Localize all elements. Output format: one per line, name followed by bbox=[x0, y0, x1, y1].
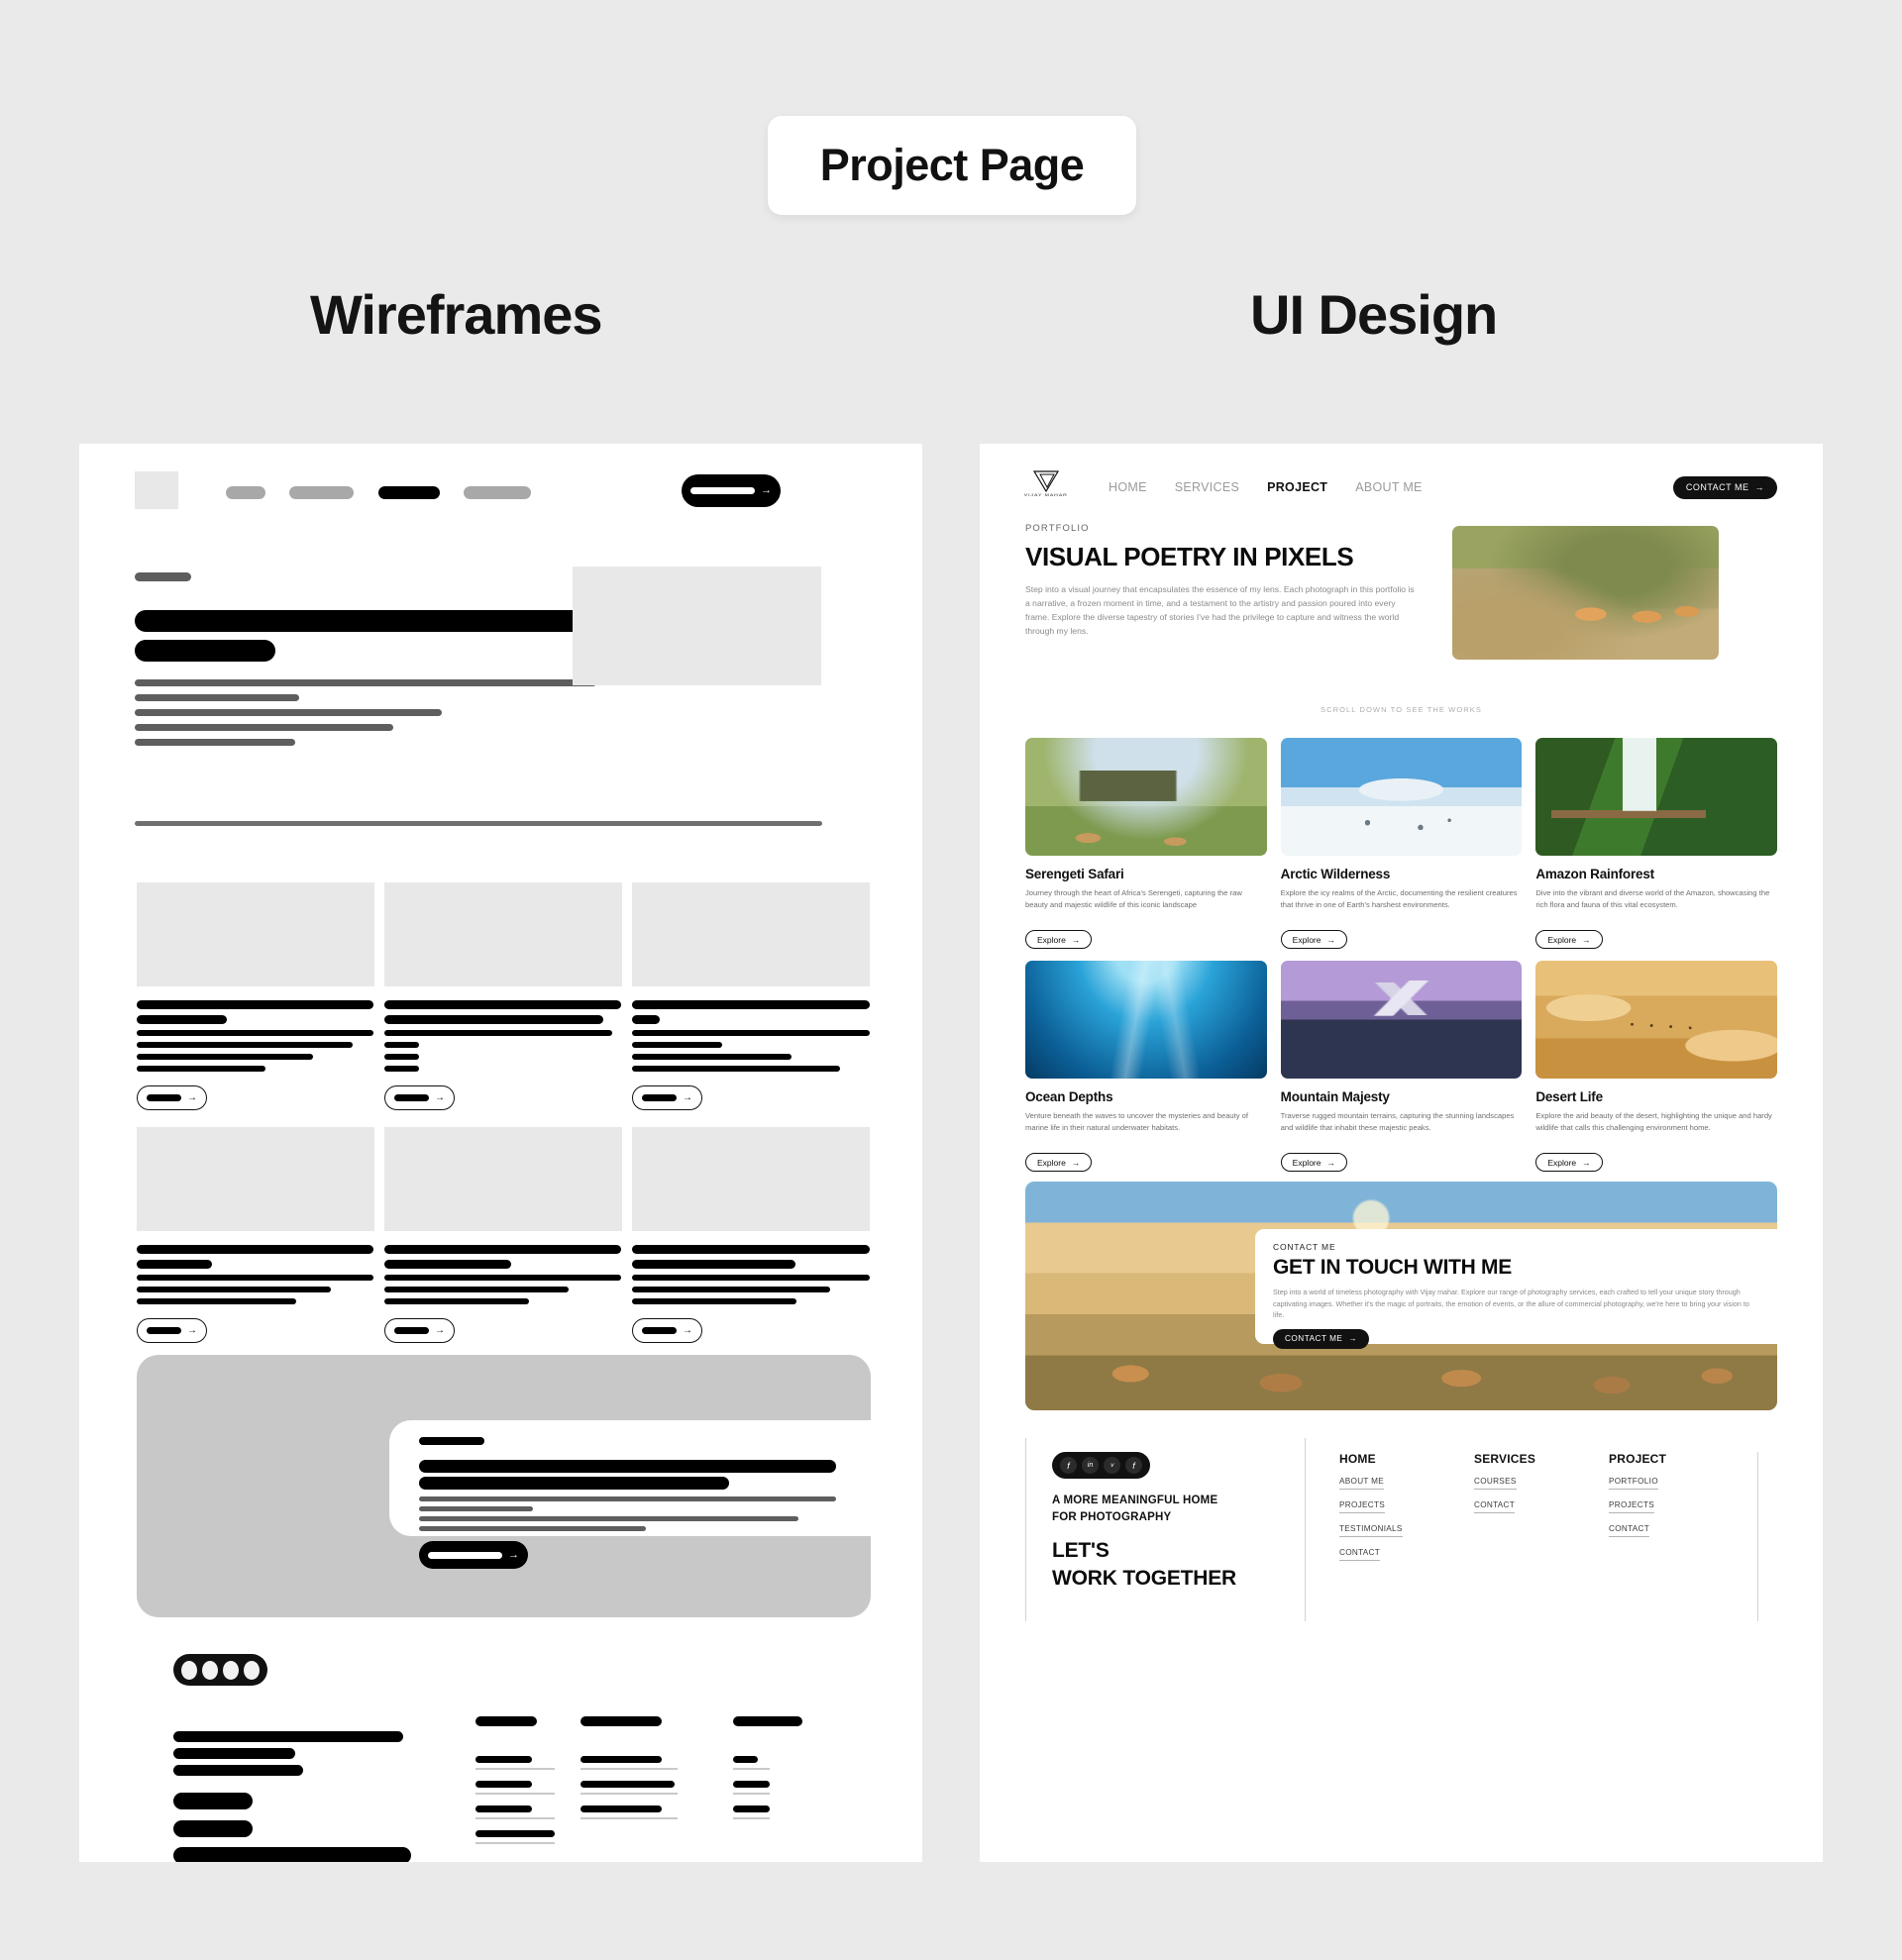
arrow-right-icon: → bbox=[435, 1326, 445, 1336]
explore-button[interactable]: Explore → bbox=[1535, 930, 1602, 949]
wf-card-title-6 bbox=[632, 1245, 870, 1254]
wf-nav-item-2[interactable] bbox=[289, 486, 354, 499]
wf-card-text-5c bbox=[384, 1298, 529, 1304]
hero-image bbox=[1452, 526, 1719, 660]
wf-nav-item-1[interactable] bbox=[226, 486, 265, 499]
footer-column-services: SERVICES COURSES CONTACT bbox=[1474, 1452, 1569, 1621]
wf-explore-button-1[interactable]: → bbox=[137, 1085, 207, 1110]
project-card[interactable]: Desert Life Explore the arid beauty of t… bbox=[1535, 961, 1777, 1172]
wf-social-icon-3 bbox=[223, 1661, 239, 1680]
nav-link-project[interactable]: PROJECT bbox=[1267, 480, 1327, 494]
site-footer: f in ᵛ f A MORE MEANINGFUL HOME FOR PHOT… bbox=[1025, 1438, 1777, 1621]
arrow-right-icon: → bbox=[1326, 935, 1335, 945]
wf-card-text-6b bbox=[632, 1287, 830, 1292]
arrow-right-icon: → bbox=[683, 1093, 692, 1103]
footer-link[interactable]: PORTFOLIO bbox=[1609, 1477, 1658, 1490]
wf-hero-title-line-1 bbox=[135, 610, 610, 632]
project-title: Ocean Depths bbox=[1025, 1089, 1267, 1104]
arrow-right-icon: → bbox=[1072, 935, 1081, 945]
ui-design-artboard: VIJAY MAHAR HOME SERVICES PROJECT ABOUT … bbox=[980, 444, 1823, 1862]
wf-nav-item-3-active[interactable] bbox=[378, 486, 440, 499]
wf-explore-button-6[interactable]: → bbox=[632, 1318, 702, 1343]
nav-link-home[interactable]: HOME bbox=[1109, 480, 1147, 494]
wf-card-text-1d bbox=[137, 1066, 265, 1072]
cta-contact-label: CONTACT ME bbox=[1285, 1334, 1342, 1343]
hero-paragraph: Step into a visual journey that encapsul… bbox=[1025, 583, 1417, 639]
footer-headline-line-1: LET'S bbox=[1052, 1537, 1305, 1565]
wf-card-title-2b bbox=[384, 1015, 603, 1024]
explore-button[interactable]: Explore → bbox=[1025, 930, 1092, 949]
explore-button[interactable]: Explore → bbox=[1535, 1153, 1602, 1172]
wf-footer-col-2-heading bbox=[581, 1716, 662, 1726]
project-card[interactable]: Mountain Majesty Traverse rugged mountai… bbox=[1281, 961, 1523, 1172]
cta-paragraph: Step into a world of timeless photograph… bbox=[1273, 1287, 1759, 1321]
arrow-right-icon: → bbox=[1755, 482, 1765, 492]
nav-links: HOME SERVICES PROJECT ABOUT ME bbox=[1109, 480, 1423, 494]
wf-cta-title-1 bbox=[419, 1460, 836, 1473]
hero-section: PORTFOLIO VISUAL POETRY IN PIXELS Step i… bbox=[1025, 523, 1417, 639]
wf-footer-tag-3 bbox=[173, 1765, 303, 1776]
logo-wordmark: VIJAY MAHAR bbox=[1024, 493, 1068, 497]
project-image-ocean bbox=[1025, 961, 1267, 1079]
arrow-right-icon: → bbox=[1072, 1158, 1081, 1168]
explore-label: Explore bbox=[1293, 1158, 1321, 1168]
wf-footer-tag-1 bbox=[173, 1731, 403, 1742]
footer-link[interactable]: CONTACT bbox=[1339, 1548, 1380, 1561]
wf-card-text-3b bbox=[632, 1042, 722, 1048]
wf-card-text-1c bbox=[137, 1054, 313, 1060]
wf-footer-col-1-link-4[interactable] bbox=[475, 1830, 555, 1837]
wf-cta-eyebrow bbox=[419, 1437, 484, 1445]
footer-tagline-line-1: A MORE MEANINGFUL HOME bbox=[1052, 1493, 1305, 1509]
nav-link-about-me[interactable]: ABOUT ME bbox=[1355, 480, 1422, 494]
wf-footer-col-2-link-3[interactable] bbox=[581, 1805, 662, 1812]
footer-link-columns: HOME ABOUT ME PROJECTS TESTIMONIALS CONT… bbox=[1305, 1438, 1777, 1621]
scroll-hint: SCROLL DOWN TO SEE THE WORKS bbox=[980, 705, 1823, 714]
wf-card-title-6b bbox=[632, 1260, 795, 1269]
facebook-icon-2[interactable]: f bbox=[1125, 1457, 1142, 1474]
wf-card-text-6c bbox=[632, 1298, 796, 1304]
arrow-right-icon: → bbox=[683, 1326, 692, 1336]
wf-divider bbox=[135, 821, 822, 826]
wf-card-title-5b bbox=[384, 1260, 511, 1269]
nav-link-services[interactable]: SERVICES bbox=[1175, 480, 1239, 494]
wf-card-image-1 bbox=[137, 882, 374, 986]
project-description: Venture beneath the waves to uncover the… bbox=[1025, 1110, 1267, 1146]
wf-card-text-1b bbox=[137, 1042, 353, 1048]
wf-footer-col-3-link-2[interactable] bbox=[733, 1781, 770, 1788]
site-navbar: VIJAY MAHAR HOME SERVICES PROJECT ABOUT … bbox=[1025, 470, 1777, 504]
page-title: Project Page bbox=[820, 140, 1085, 191]
wf-social-icon-2 bbox=[202, 1661, 218, 1680]
explore-button[interactable]: Explore → bbox=[1025, 1153, 1092, 1172]
footer-link[interactable]: CONTACT bbox=[1609, 1524, 1649, 1537]
comparison-canvas: Project Page Wireframes UI Design → bbox=[0, 0, 1902, 1960]
wf-cta-text-1 bbox=[419, 1496, 836, 1501]
wf-card-title-1b bbox=[137, 1015, 227, 1024]
footer-link[interactable]: PROJECTS bbox=[1339, 1500, 1385, 1513]
wf-card-text-4b bbox=[137, 1287, 331, 1292]
wf-hero-text-line-5 bbox=[135, 739, 295, 746]
wf-footer-col-1-link-1[interactable] bbox=[475, 1756, 532, 1763]
wf-explore-button-2[interactable]: → bbox=[384, 1085, 455, 1110]
footer-column-project: PROJECT PORTFOLIO PROJECTS CONTACT bbox=[1609, 1452, 1704, 1621]
wf-card-title-4b bbox=[137, 1260, 212, 1269]
project-description: Journey through the heart of Africa's Se… bbox=[1025, 887, 1267, 923]
wf-cta-text-4 bbox=[419, 1526, 646, 1531]
footer-tagline: A MORE MEANINGFUL HOME FOR PHOTOGRAPHY bbox=[1052, 1493, 1305, 1525]
footer-link[interactable]: PROJECTS bbox=[1609, 1500, 1654, 1513]
wf-card-title-1 bbox=[137, 1000, 373, 1009]
arrow-right-icon: → bbox=[435, 1093, 445, 1103]
project-card[interactable]: Serengeti Safari Journey through the hea… bbox=[1025, 738, 1267, 949]
arrow-right-icon: → bbox=[187, 1326, 197, 1336]
twitter-icon[interactable]: ᵛ bbox=[1104, 1457, 1120, 1474]
triangle-logo-icon bbox=[1033, 470, 1059, 492]
footer-column-heading: PROJECT bbox=[1609, 1452, 1704, 1466]
footer-tagline-line-2: FOR PHOTOGRAPHY bbox=[1052, 1509, 1305, 1526]
wf-social-icon-1 bbox=[181, 1661, 197, 1680]
page-title-badge: Project Page bbox=[768, 116, 1136, 215]
arrow-right-icon: → bbox=[1582, 1158, 1591, 1168]
project-image-amazon bbox=[1535, 738, 1777, 856]
explore-label: Explore bbox=[1037, 935, 1066, 945]
project-title: Serengeti Safari bbox=[1025, 867, 1267, 881]
project-description: Explore the arid beauty of the desert, h… bbox=[1535, 1110, 1777, 1146]
wf-footer-col-2-link-1[interactable] bbox=[581, 1756, 662, 1763]
arrow-right-icon: → bbox=[508, 1550, 519, 1561]
brand-logo[interactable]: VIJAY MAHAR bbox=[1025, 470, 1067, 504]
wf-footer-col-1-heading bbox=[475, 1716, 537, 1726]
wf-cta-button[interactable]: → bbox=[419, 1541, 528, 1569]
wf-footer-col-2-link-2[interactable] bbox=[581, 1781, 675, 1788]
wf-footer-big-1 bbox=[173, 1793, 253, 1809]
arrow-right-icon: → bbox=[187, 1093, 197, 1103]
wf-card-image-2 bbox=[384, 882, 622, 986]
linkedin-icon[interactable]: in bbox=[1082, 1457, 1099, 1474]
footer-headline: LET'S WORK TOGETHER bbox=[1052, 1537, 1305, 1593]
wf-footer-big-3 bbox=[173, 1847, 411, 1862]
footer-column-heading: SERVICES bbox=[1474, 1452, 1569, 1466]
wf-social-row[interactable] bbox=[173, 1654, 267, 1686]
wf-cta-text-3 bbox=[419, 1516, 798, 1521]
wf-footer-col-1-link-2[interactable] bbox=[475, 1781, 532, 1788]
project-title: Mountain Majesty bbox=[1281, 1089, 1523, 1104]
wf-card-title-2 bbox=[384, 1000, 621, 1009]
arrow-right-icon: → bbox=[1326, 1158, 1335, 1168]
wf-card-text-3d bbox=[632, 1066, 840, 1072]
wf-explore-button-5[interactable]: → bbox=[384, 1318, 455, 1343]
cta-eyebrow: CONTACT ME bbox=[1273, 1242, 1759, 1252]
footer-column-heading: HOME bbox=[1339, 1452, 1434, 1466]
wf-hero-eyebrow bbox=[135, 572, 191, 581]
wf-contact-label bbox=[690, 487, 755, 494]
project-title: Arctic Wilderness bbox=[1281, 867, 1523, 881]
wf-card-title-3b bbox=[632, 1015, 660, 1024]
section-heading-ui-design: UI Design bbox=[1250, 282, 1497, 347]
project-title: Desert Life bbox=[1535, 1089, 1777, 1104]
wf-card-text-6a bbox=[632, 1275, 870, 1281]
footer-column-home: HOME ABOUT ME PROJECTS TESTIMONIALS CONT… bbox=[1339, 1452, 1434, 1621]
wf-card-text-3a bbox=[632, 1030, 870, 1036]
wf-social-icon-4 bbox=[244, 1661, 260, 1680]
wf-card-text-4a bbox=[137, 1275, 373, 1281]
arrow-right-icon: → bbox=[761, 485, 772, 496]
hero-eyebrow: PORTFOLIO bbox=[1025, 523, 1417, 534]
wf-nav-item-4[interactable] bbox=[464, 486, 531, 499]
wf-footer-col-3-link-3[interactable] bbox=[733, 1805, 770, 1812]
wf-card-text-2a bbox=[384, 1030, 612, 1036]
wireframe-artboard: → → → bbox=[79, 444, 922, 1862]
wf-card-text-5a bbox=[384, 1275, 621, 1281]
wf-footer-col-3-heading bbox=[733, 1716, 802, 1726]
wf-card-image-3 bbox=[632, 882, 870, 986]
wf-footer-tag-2 bbox=[173, 1748, 295, 1759]
project-description: Explore the icy realms of the Arctic, do… bbox=[1281, 887, 1523, 923]
footer-headline-line-2: WORK TOGETHER bbox=[1052, 1565, 1305, 1593]
wf-logo-placeholder bbox=[135, 471, 178, 509]
project-card[interactable]: Amazon Rainforest Dive into the vibrant … bbox=[1535, 738, 1777, 949]
wf-card-title-5 bbox=[384, 1245, 621, 1254]
wf-card-text-1a bbox=[137, 1030, 373, 1036]
project-description: Traverse rugged mountain terrains, captu… bbox=[1281, 1110, 1523, 1146]
footer-link[interactable]: ABOUT ME bbox=[1339, 1477, 1384, 1490]
social-links[interactable]: f in ᵛ f bbox=[1052, 1452, 1150, 1479]
arrow-right-icon: → bbox=[1582, 935, 1591, 945]
wf-footer-big-2 bbox=[173, 1820, 253, 1837]
explore-label: Explore bbox=[1547, 935, 1576, 945]
projects-grid: Serengeti Safari Journey through the hea… bbox=[1025, 738, 1777, 1172]
cta-contact-button[interactable]: CONTACT ME → bbox=[1273, 1329, 1369, 1349]
wf-hero-title-line-2 bbox=[135, 640, 275, 662]
wf-hero-text-line-3 bbox=[135, 709, 442, 716]
footer-divider bbox=[1757, 1452, 1758, 1621]
wf-hero-text-line-1 bbox=[135, 679, 596, 686]
explore-button[interactable]: Explore → bbox=[1281, 1153, 1347, 1172]
project-image-serengeti bbox=[1025, 738, 1267, 856]
wf-card-text-2b bbox=[384, 1042, 419, 1048]
footer-brand-block: f in ᵛ f A MORE MEANINGFUL HOME FOR PHOT… bbox=[1025, 1438, 1305, 1621]
wf-card-text-2d bbox=[384, 1066, 419, 1072]
project-image-desert bbox=[1535, 961, 1777, 1079]
project-image-arctic bbox=[1281, 738, 1523, 856]
wf-card-text-5b bbox=[384, 1287, 569, 1292]
nav-contact-button[interactable]: CONTACT ME → bbox=[1673, 476, 1777, 499]
footer-link[interactable]: COURSES bbox=[1474, 1477, 1517, 1490]
project-image-mountain bbox=[1281, 961, 1523, 1079]
footer-link[interactable]: CONTACT bbox=[1474, 1500, 1515, 1513]
wf-contact-button[interactable]: → bbox=[682, 474, 781, 507]
wf-cta-title-2 bbox=[419, 1477, 729, 1490]
section-heading-wireframes: Wireframes bbox=[310, 282, 602, 347]
wf-explore-button-4[interactable]: → bbox=[137, 1318, 207, 1343]
wf-hero-image-placeholder bbox=[573, 567, 821, 685]
wf-footer-col-3-link-1[interactable] bbox=[733, 1756, 758, 1763]
wf-card-title-4 bbox=[137, 1245, 373, 1254]
cta-heading: GET IN TOUCH WITH ME bbox=[1273, 1256, 1759, 1280]
footer-link[interactable]: TESTIMONIALS bbox=[1339, 1524, 1403, 1537]
project-card[interactable]: Arctic Wilderness Explore the icy realms… bbox=[1281, 738, 1523, 949]
project-description: Dive into the vibrant and diverse world … bbox=[1535, 887, 1777, 923]
explore-label: Explore bbox=[1293, 935, 1321, 945]
explore-label: Explore bbox=[1547, 1158, 1576, 1168]
hero-heading: VISUAL POETRY IN PIXELS bbox=[1025, 542, 1417, 572]
wf-card-title-3 bbox=[632, 1000, 870, 1009]
wf-explore-button-3[interactable]: → bbox=[632, 1085, 702, 1110]
wf-hero-text-line-4 bbox=[135, 724, 393, 731]
contact-cta-section: CONTACT ME GET IN TOUCH WITH ME Step int… bbox=[1025, 1182, 1777, 1410]
contact-cta-card: CONTACT ME GET IN TOUCH WITH ME Step int… bbox=[1255, 1229, 1777, 1344]
explore-button[interactable]: Explore → bbox=[1281, 930, 1347, 949]
wf-card-image-5 bbox=[384, 1127, 622, 1231]
arrow-right-icon: → bbox=[1348, 1334, 1357, 1343]
nav-contact-label: CONTACT ME bbox=[1686, 482, 1749, 492]
explore-label: Explore bbox=[1037, 1158, 1066, 1168]
wf-footer-col-1-link-3[interactable] bbox=[475, 1805, 532, 1812]
wf-card-image-6 bbox=[632, 1127, 870, 1231]
wf-hero-text-line-2 bbox=[135, 694, 299, 701]
project-title: Amazon Rainforest bbox=[1535, 867, 1777, 881]
wf-card-text-2c bbox=[384, 1054, 419, 1060]
wf-card-text-4c bbox=[137, 1298, 296, 1304]
project-card[interactable]: Ocean Depths Venture beneath the waves t… bbox=[1025, 961, 1267, 1172]
wf-card-image-4 bbox=[137, 1127, 374, 1231]
facebook-icon[interactable]: f bbox=[1060, 1457, 1077, 1474]
wf-cta-text-2 bbox=[419, 1506, 533, 1511]
wf-card-text-3c bbox=[632, 1054, 792, 1060]
